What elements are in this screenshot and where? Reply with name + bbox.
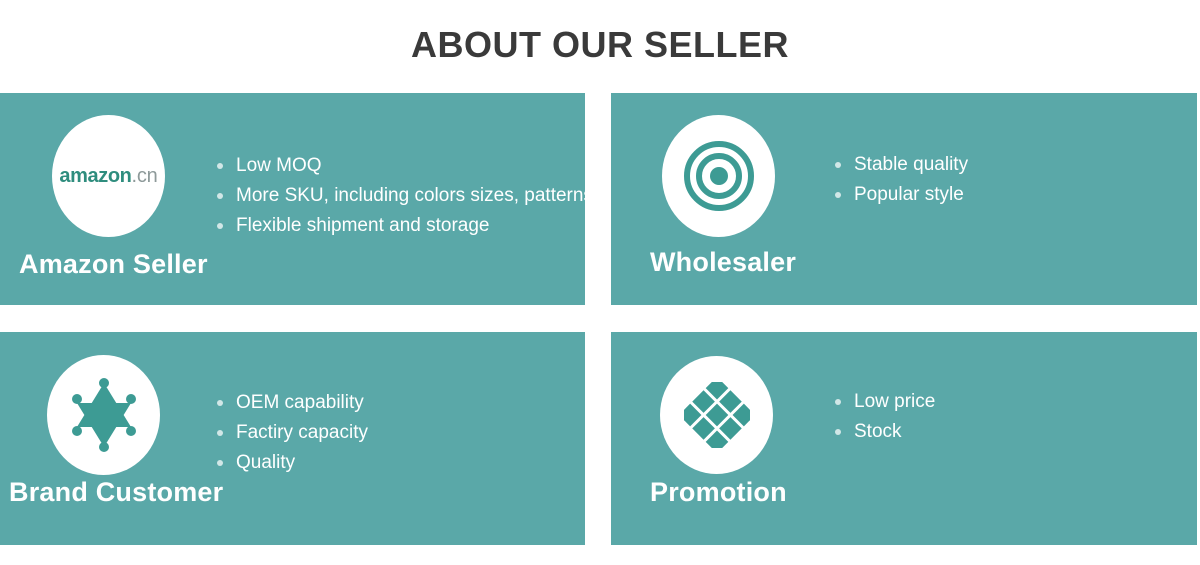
list-item: OEM capability (215, 388, 368, 418)
card-title-brand-customer: Brand Customer (9, 476, 223, 508)
about-our-seller-page: ABOUT OUR SELLER amazon.cn Low MOQ More … (0, 0, 1200, 565)
card-amazon-seller[interactable]: amazon.cn Low MOQ More SKU, including co… (0, 93, 585, 305)
card-wholesaler[interactable]: Stable quality Popular style Wholesaler (611, 93, 1197, 305)
target-bullseye-icon (662, 115, 775, 237)
amazon-wordmark: amazon.cn (59, 166, 157, 186)
list-item: Factiry capacity (215, 418, 368, 448)
card-title-promotion: Promotion (650, 476, 787, 508)
card-title-wholesaler: Wholesaler (650, 246, 796, 278)
list-item: Low price (833, 387, 935, 417)
card-title-amazon-seller: Amazon Seller (19, 248, 208, 280)
sheriff-star-badge-icon (47, 355, 160, 475)
list-item: Stable quality (833, 150, 968, 180)
list-item: More SKU, including colors sizes, patter… (215, 181, 585, 211)
diamond-grid-icon (660, 356, 773, 474)
page-title: ABOUT OUR SELLER (0, 22, 1200, 68)
amazon-wordmark-name: amazon (59, 165, 131, 187)
card-brand-customer[interactable]: OEM capability Factiry capacity Quality … (0, 332, 585, 545)
seller-cards-grid: amazon.cn Low MOQ More SKU, including co… (0, 93, 1200, 545)
list-item: Popular style (833, 180, 968, 210)
list-item: Low MOQ (215, 151, 585, 181)
amazon-logo-icon: amazon.cn (52, 115, 165, 237)
feature-list: Low price Stock (833, 387, 935, 447)
feature-list: Low MOQ More SKU, including colors sizes… (215, 151, 585, 241)
list-item: Stock (833, 417, 935, 447)
amazon-wordmark-tld: .cn (131, 165, 157, 187)
list-item: Quality (215, 448, 368, 478)
feature-list: Stable quality Popular style (833, 150, 968, 210)
list-item: Flexible shipment and storage (215, 211, 585, 241)
card-promotion[interactable]: Low price Stock Promotion (611, 332, 1197, 545)
feature-list: OEM capability Factiry capacity Quality (215, 388, 368, 478)
